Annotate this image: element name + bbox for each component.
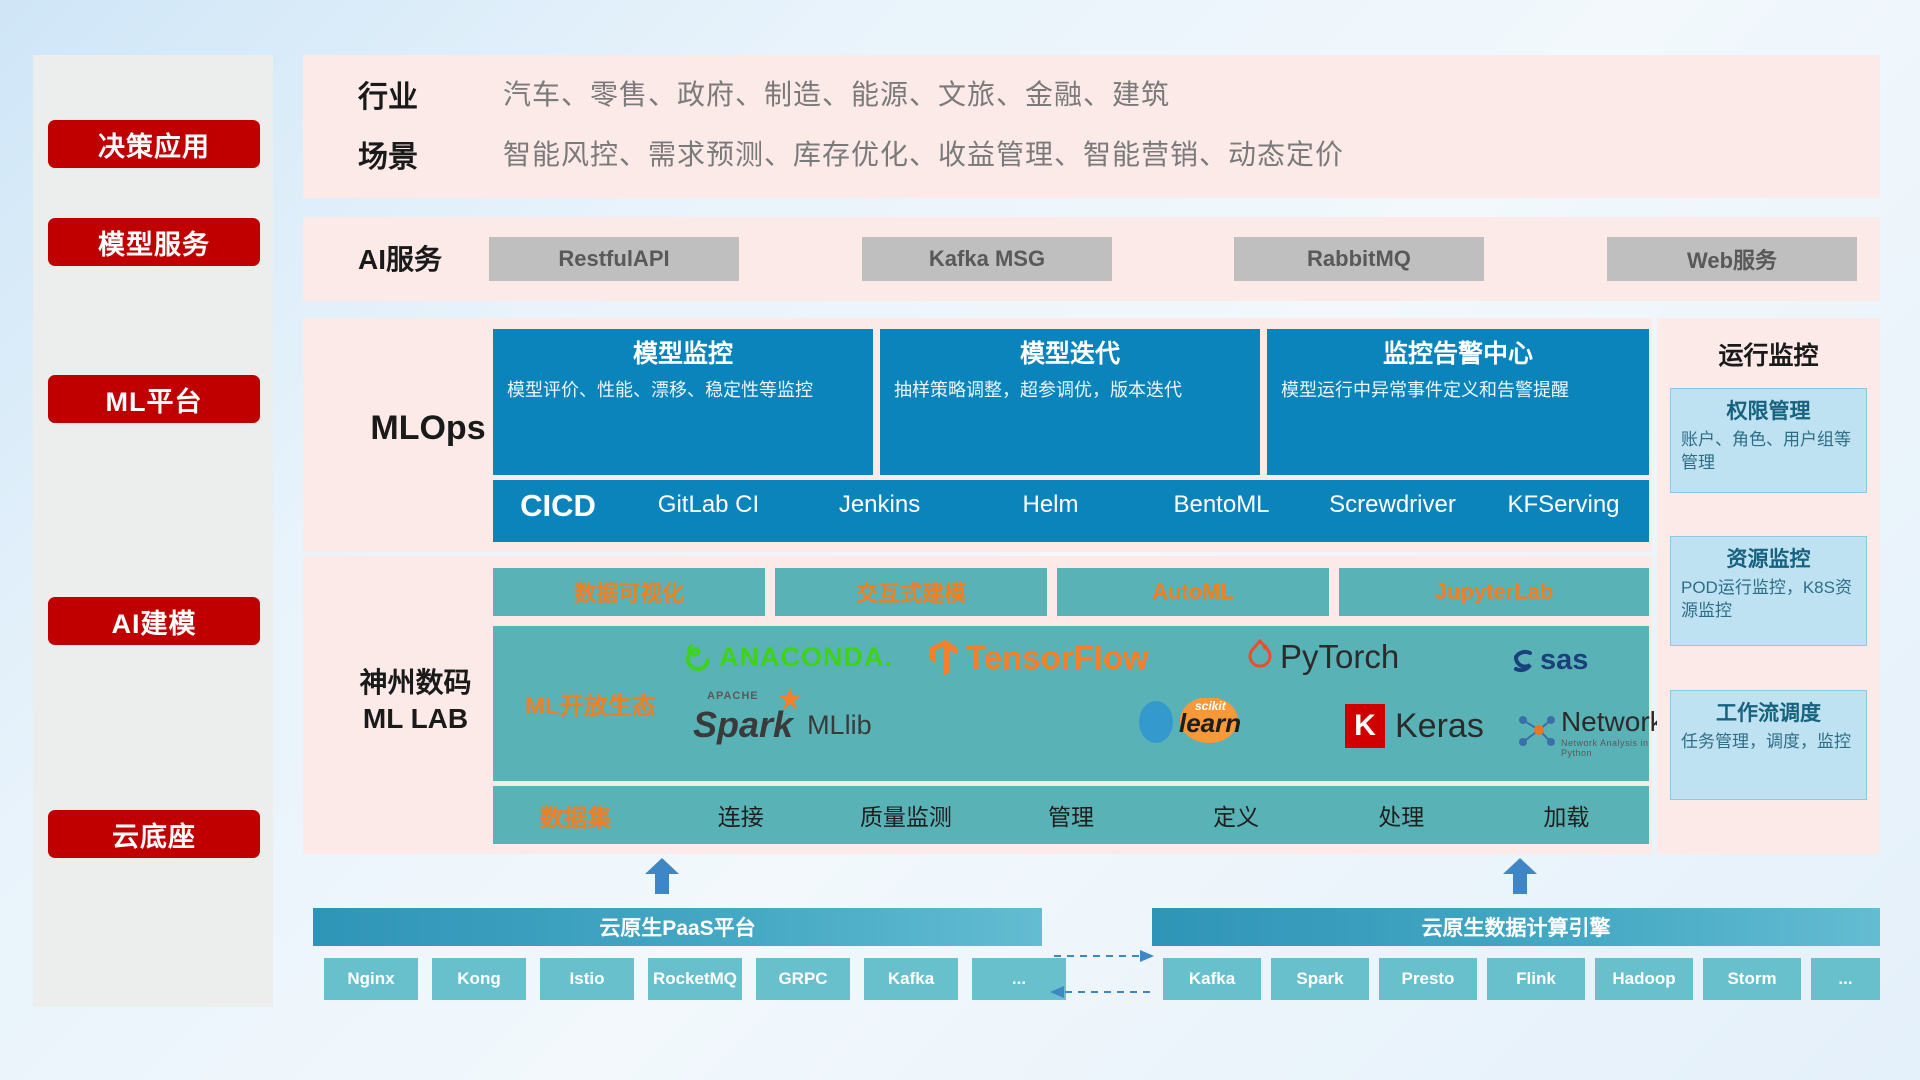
service-chip-kafka-msg[interactable]: Kafka MSG [862,237,1112,281]
card-title: 模型迭代 [894,339,1246,370]
card-desc: 账户、角色、用户组等管理 [1681,429,1856,475]
card-desc: 抽样策略调整，超参调优，版本迭代 [894,378,1246,403]
dataset-item-load[interactable]: 加载 [1484,798,1649,832]
cicd-item-bentoml[interactable]: BentoML [1136,480,1307,520]
spark-star-icon [779,688,801,712]
cicd-item-jenkins[interactable]: Jenkins [794,480,965,520]
sas-mark-icon [1508,646,1538,676]
arrow-up-paas-icon [645,858,679,894]
mllib-wordmark: MLlib [807,710,872,741]
mlops-card-model-iteration[interactable]: 模型迭代 抽样策略调整，超参调优，版本迭代 [880,329,1260,475]
dataset-item-define[interactable]: 定义 [1154,798,1319,832]
rail-item-ml-platform[interactable]: ML平台 [48,375,260,423]
card-title: 监控告警中心 [1281,339,1635,370]
anaconda-logo: ANACONDA. [683,642,893,673]
scenario-value: 智能风控、需求预测、库存优化、收益管理、智能营销、动态定价 [503,133,1344,173]
cicd-item-gitlab-ci[interactable]: GitLab CI [623,480,794,520]
engine-chip-hadoop[interactable]: Hadoop [1595,958,1693,1000]
monitor-card-workflow[interactable]: 工作流调度 任务管理，调度，监控 [1670,690,1867,800]
mlops-band: MLOps 模型监控 模型评价、性能、漂移、稳定性等监控 模型迭代 抽样策略调整… [303,318,1652,552]
paas-chip-nginx[interactable]: Nginx [324,958,418,1000]
dataset-label: 数据集 [493,798,658,833]
tool-tab-data-visualization[interactable]: 数据可视化 [493,568,765,616]
cicd-item-screwdriver[interactable]: Screwdriver [1307,480,1478,520]
arrow-up-engine-icon [1503,858,1537,894]
industry-value: 汽车、零售、政府、制造、能源、文旅、金融、建筑 [503,73,1170,113]
mlops-card-alert-center[interactable]: 监控告警中心 模型运行中异常事件定义和告警提醒 [1267,329,1649,475]
service-chip-rabbitmq[interactable]: RabbitMQ [1234,237,1484,281]
sas-wordmark: sas [1540,644,1588,677]
paas-chip-grpc[interactable]: GRPC [756,958,850,1000]
card-desc: 模型运行中异常事件定义和告警提醒 [1281,378,1635,403]
card-desc: 任务管理，调度，监控 [1681,731,1856,754]
mlops-card-model-monitor[interactable]: 模型监控 模型评价、性能、漂移、稳定性等监控 [493,329,873,475]
monitor-card-resource[interactable]: 资源监控 POD运行监控，K8S资源监控 [1670,536,1867,646]
engine-bar[interactable]: 云原生数据计算引擎 [1152,908,1880,946]
industry-label: 行业 [358,71,488,117]
keras-logo: K Keras [1345,704,1484,748]
ai-service-label: AI服务 [358,235,508,281]
card-desc: POD运行监控，K8S资源监控 [1681,577,1856,623]
dataset-item-manage[interactable]: 管理 [988,798,1153,832]
engine-chip-spark[interactable]: Spark [1271,958,1369,1000]
card-title: 权限管理 [1681,395,1856,425]
engine-chip-flink[interactable]: Flink [1487,958,1585,1000]
ai-service-band: AI服务 RestfulAPI Kafka MSG RabbitMQ Web服务 [303,217,1880,301]
paas-chip-kong[interactable]: Kong [432,958,526,1000]
dataset-row: 数据集 连接 质量监测 管理 定义 处理 加载 [493,786,1649,844]
engine-chip-presto[interactable]: Presto [1379,958,1477,1000]
learn-wordmark: learn [1179,708,1241,739]
apache-tag: APACHE [707,690,759,702]
tensorflow-logo: TensorFlow [928,638,1149,678]
mllab-label: 神州数码 ML LAB [323,661,508,741]
runtime-monitor-panel: 运行监控 权限管理 账户、角色、用户组等管理 资源监控 POD运行监控，K8S资… [1657,318,1880,854]
cloud-link-arrows-icon [1050,944,1154,1006]
ml-ecosystem-label: ML开放生态 [525,686,656,721]
tensorflow-wordmark: TensorFlow [966,639,1149,677]
keras-wordmark: Keras [1395,707,1484,746]
card-desc: 模型评价、性能、漂移、稳定性等监控 [507,378,859,403]
pytorch-logo: PyTorch [1245,638,1399,676]
anaconda-mark-icon [683,643,713,673]
anaconda-wordmark: ANACONDA. [719,642,893,673]
pytorch-mark-icon [1245,639,1275,675]
paas-chip-istio[interactable]: Istio [540,958,634,1000]
engine-chip-more[interactable]: ... [1811,958,1880,1000]
card-title: 资源监控 [1681,543,1856,573]
cicd-label: CICD [493,480,623,524]
keras-mark-icon: K [1345,704,1385,748]
pytorch-wordmark: PyTorch [1280,638,1399,676]
networkx-graph-icon [1513,712,1557,752]
sas-logo: sas [1508,644,1588,677]
tool-tab-interactive-modeling[interactable]: 交互式建模 [775,568,1047,616]
left-rail: 决策应用 模型服务 ML平台 AI建模 云底座 [33,55,273,1007]
dataset-item-quality[interactable]: 质量监测 [823,798,988,832]
architecture-diagram: 决策应用 模型服务 ML平台 AI建模 云底座 行业 汽车、零售、政府、制造、能… [0,0,1920,1080]
rail-item-decision-app[interactable]: 决策应用 [48,120,260,168]
scikit-learn-logo: scikit learn [1133,698,1249,744]
service-chip-web-service[interactable]: Web服务 [1607,237,1857,281]
rail-item-cloud-base[interactable]: 云底座 [48,810,260,858]
paas-chip-rocketmq[interactable]: RocketMQ [648,958,742,1000]
card-title: 模型监控 [507,339,859,370]
monitor-card-permission[interactable]: 权限管理 账户、角色、用户组等管理 [1670,388,1867,493]
mllab-label-line2: ML LAB [363,701,468,737]
dataset-item-connect[interactable]: 连接 [658,798,823,832]
tool-tab-jupyterlab[interactable]: JupyterLab [1339,568,1649,616]
dataset-item-process[interactable]: 处理 [1319,798,1484,832]
cicd-row: CICD GitLab CI Jenkins Helm BentoML Scre… [493,480,1649,542]
scenario-label: 场景 [358,131,488,177]
card-title: 工作流调度 [1681,697,1856,727]
cicd-item-kfserving[interactable]: KFServing [1478,480,1649,520]
paas-chip-kafka[interactable]: Kafka [864,958,958,1000]
service-chip-restfulapi[interactable]: RestfulAPI [489,237,739,281]
mllab-label-line1: 神州数码 [359,665,471,701]
rail-item-ai-modeling[interactable]: AI建模 [48,597,260,645]
tool-tab-automl[interactable]: AutoML [1057,568,1329,616]
ml-ecosystem-panel: ML开放生态 ANACONDA. TensorFlow [493,626,1649,781]
decision-app-band: 行业 汽车、零售、政府、制造、能源、文旅、金融、建筑 场景 智能风控、需求预测、… [303,55,1880,198]
tensorflow-mark-icon [928,638,962,678]
runtime-monitor-title: 运行监控 [1657,336,1880,372]
spark-mllib-logo: APACHE Spark MLlib [693,704,872,746]
engine-chip-kafka[interactable]: Kafka [1163,958,1261,1000]
rail-item-model-service[interactable]: 模型服务 [48,218,260,266]
engine-chip-storm[interactable]: Storm [1703,958,1801,1000]
cicd-item-helm[interactable]: Helm [965,480,1136,520]
ai-modeling-band: 神州数码 ML LAB 数据可视化 交互式建模 AutoML JupyterLa… [303,556,1652,854]
paas-bar[interactable]: 云原生PaaS平台 [313,908,1042,946]
